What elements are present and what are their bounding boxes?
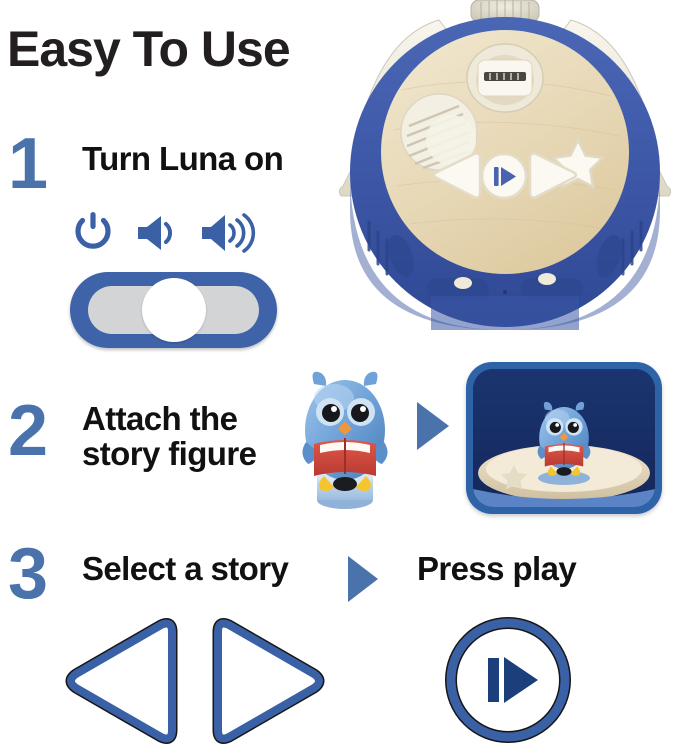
owl-on-device-photo [473,369,655,507]
step-heading-1: Turn Luna on [82,142,283,177]
arrow-right-icon [413,400,453,452]
previous-triangle-button[interactable] [60,614,185,748]
step-1-icon-row [72,208,272,254]
arrow-right-icon [345,554,381,604]
step-number-1: 1 [8,128,45,200]
power-icon [72,210,114,252]
play-button [482,154,526,198]
step-heading-3b: Press play [417,552,576,587]
step-heading-3a: Select a story [82,552,288,587]
result-photo [473,369,655,507]
play-button[interactable] [438,610,578,750]
result-photo-panel [466,362,662,514]
toggle-knob[interactable] [142,278,206,342]
next-triangle-button[interactable] [205,614,330,748]
page-title: Easy To Use [7,24,290,74]
step-heading-2: Attach the story figure [82,402,307,472]
volume-low-icon [136,214,184,252]
power-toggle-switch[interactable] [70,272,277,348]
step-number-3: 3 [8,538,45,610]
volume-high-icon [200,212,260,254]
infographic-canvas: Easy To Use 1 Turn Luna on [0,0,679,751]
connector-slot [467,44,543,112]
owl-story-figure [290,358,400,510]
luna-device-illustration [331,0,679,345]
step-number-2: 2 [8,395,45,467]
